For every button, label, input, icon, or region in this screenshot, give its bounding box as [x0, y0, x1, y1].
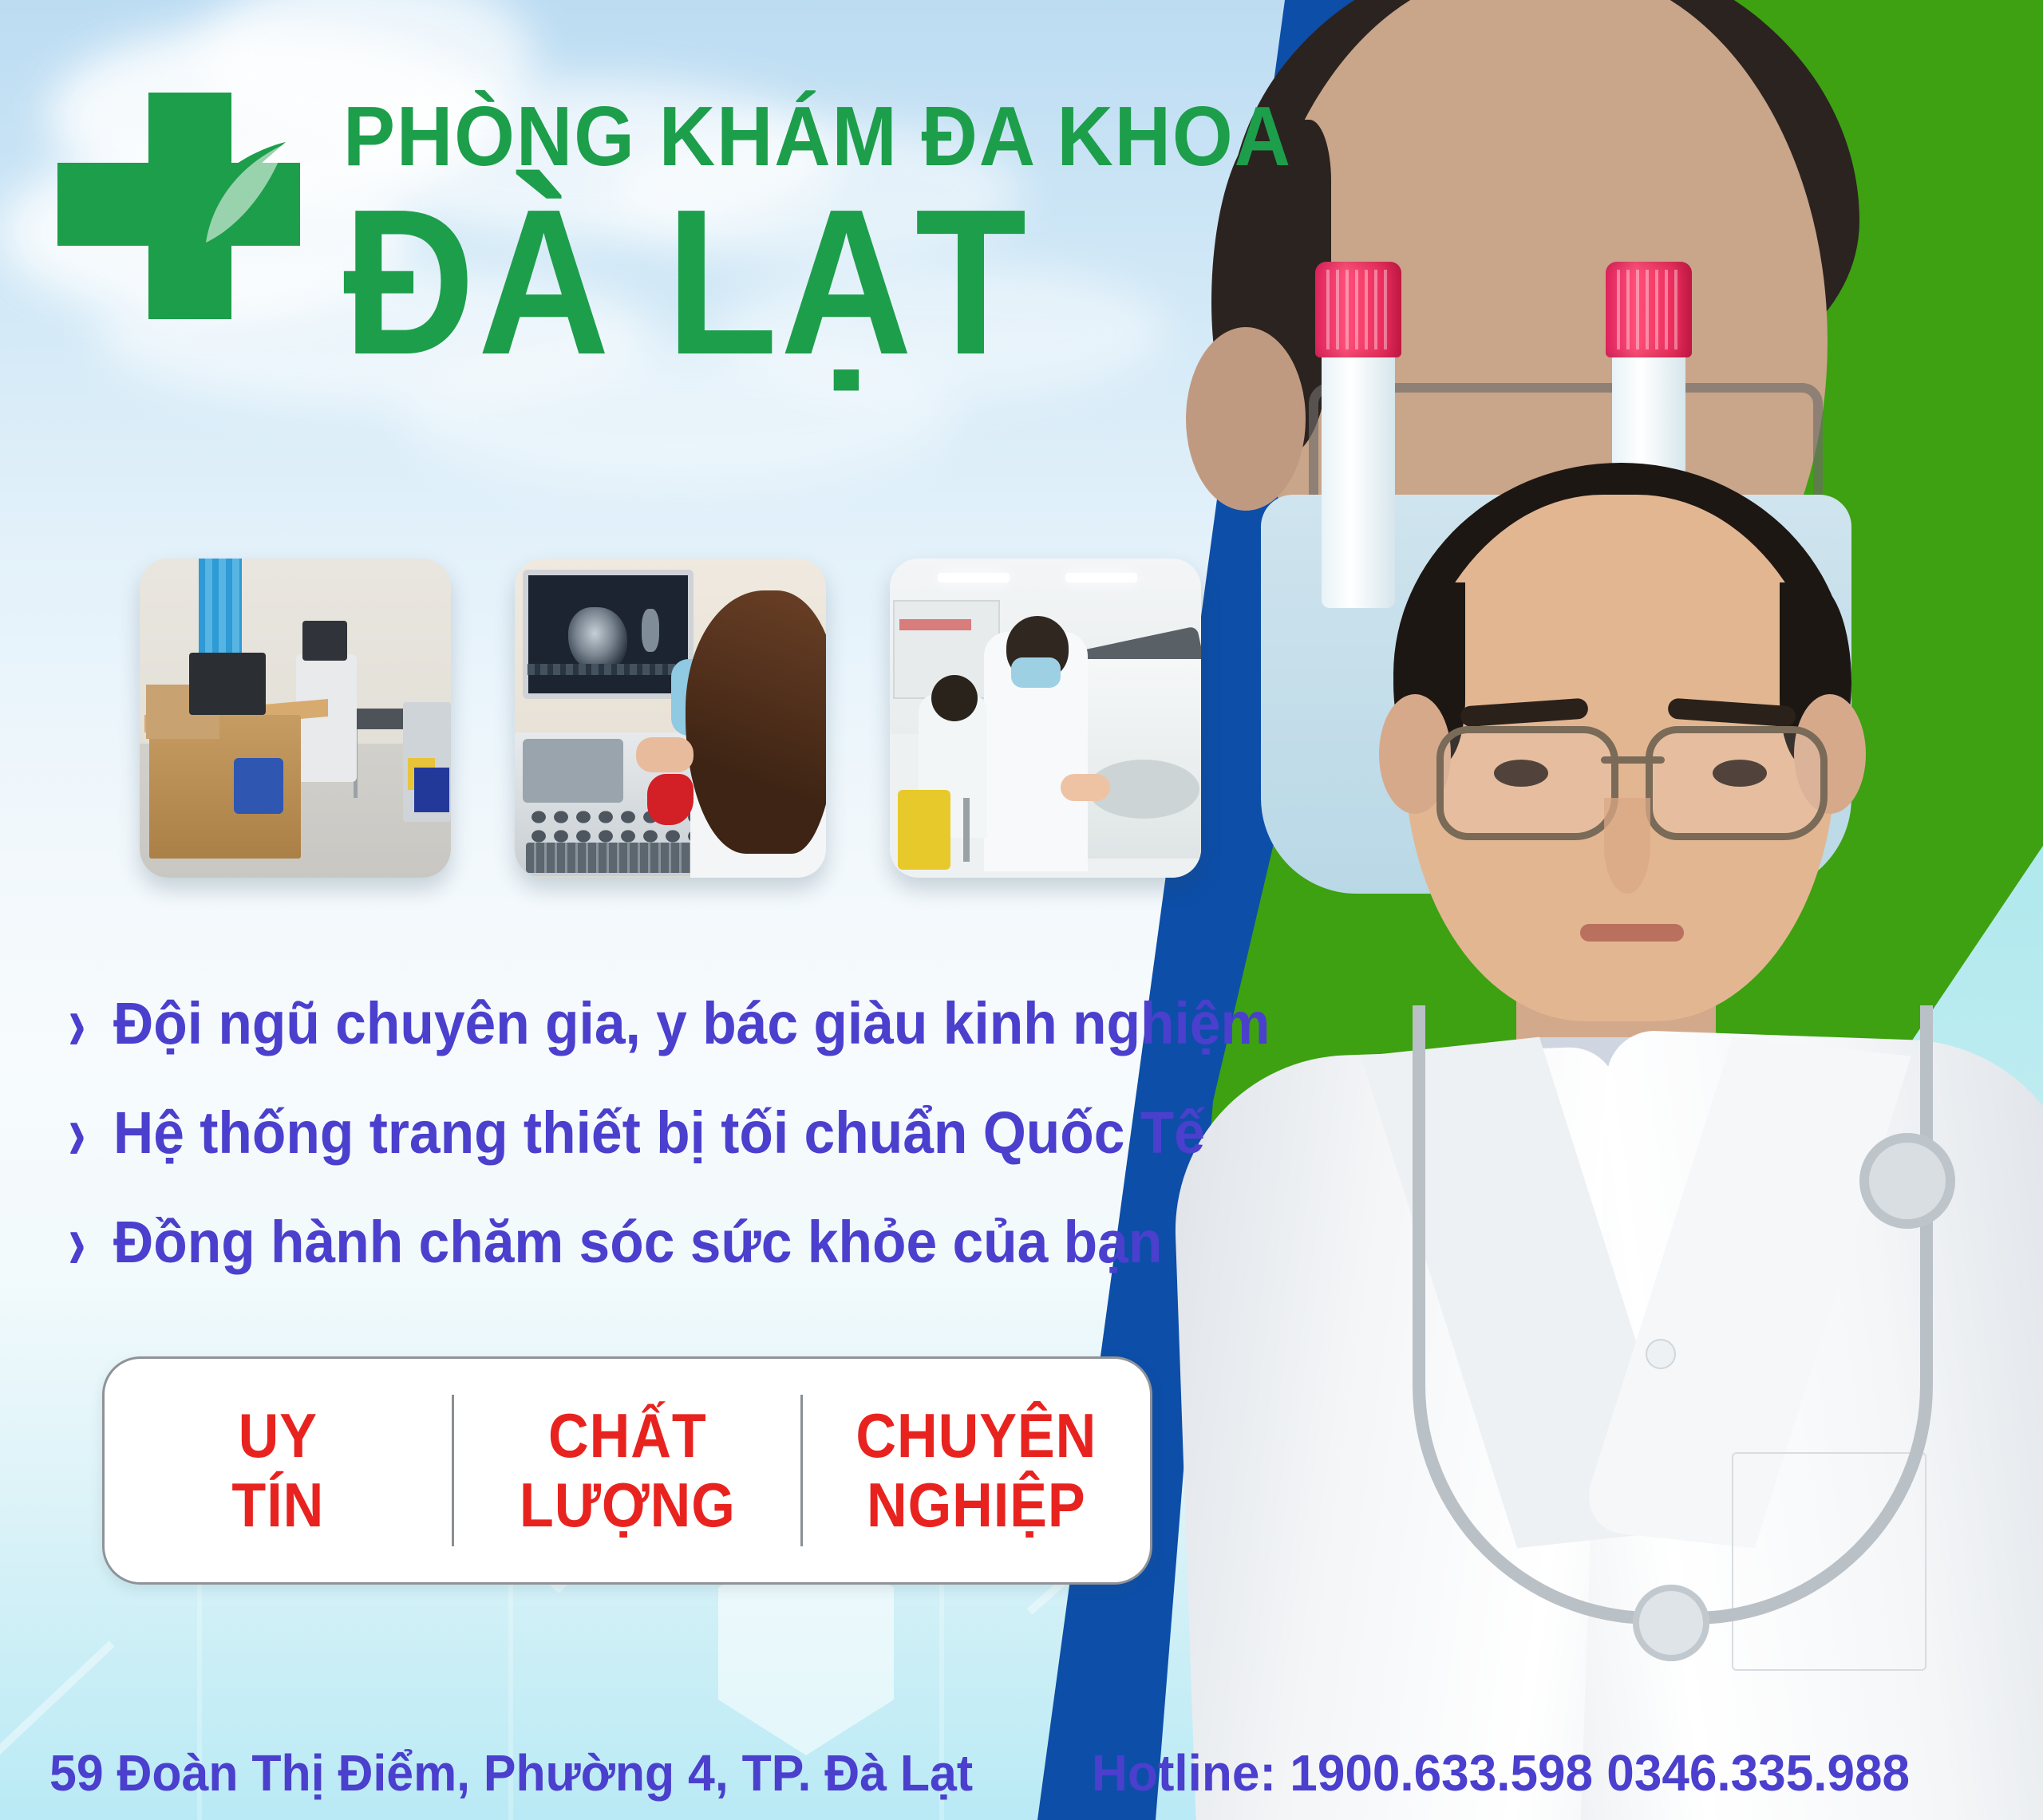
console-keyboard [526, 843, 694, 873]
value-line-2: TÍN [231, 1471, 324, 1540]
stethoscope-bell [1859, 1133, 1955, 1229]
photo-gallery [140, 559, 1201, 894]
mouth [1580, 924, 1684, 942]
chevron-right-icon: › [68, 1101, 101, 1164]
ultrasound-image [568, 607, 627, 673]
tube-cap [1606, 262, 1692, 357]
medical-cross-leaf-logo-icon [46, 86, 342, 326]
technician-hair [686, 590, 826, 854]
gallery-photo-exam-room[interactable] [140, 559, 451, 878]
glasses-bridge [1601, 756, 1665, 764]
nose [1604, 798, 1650, 894]
lens-right [1646, 726, 1828, 840]
brand-wordmark: PHÒNG KHÁM ĐA KHOA ĐÀ LẠT [343, 94, 1374, 383]
red-cloth [647, 774, 694, 825]
value-line-1: UY [239, 1401, 318, 1471]
stethoscope-icon [1413, 1005, 1907, 1692]
value-divider [452, 1395, 454, 1546]
lens-left [1436, 726, 1618, 840]
list-item: › Đội ngũ chuyên gia, y bác giàu kinh ng… [64, 989, 1245, 1057]
chevron-right-icon: › [68, 1210, 101, 1273]
ultrasound-display [523, 570, 694, 699]
chevron-right-icon: › [68, 992, 101, 1055]
stethoscope-tubing [1413, 1005, 1933, 1625]
biohazard-bin [898, 790, 950, 870]
value-line-2: LƯỢNG [520, 1471, 736, 1540]
ultrasound-monitor [302, 621, 347, 661]
value-line-1: CHUYÊN [856, 1401, 1097, 1471]
gallery-photo-laboratory[interactable] [890, 559, 1201, 878]
clinic-logo [46, 86, 342, 326]
feature-text: Đồng hành chăm sóc sức khỏe của bạn [113, 1208, 1162, 1276]
white-lab-coat [1173, 1005, 2043, 1820]
feature-text: Hệ thống trang thiết bị tối chuẩn Quốc T… [113, 1099, 1205, 1167]
blue-chair [234, 758, 283, 814]
clinic-advertisement-poster: PHÒNG KHÁM ĐA KHOA ĐÀ LẠT [0, 0, 2043, 1820]
list-item: › Hệ thống trang thiết bị tối chuẩn Quốc… [64, 1099, 1245, 1167]
feature-list: › Đội ngũ chuyên gia, y bác giàu kinh ng… [64, 989, 1245, 1317]
list-item: › Đồng hành chăm sóc sức khỏe của bạn [64, 1208, 1245, 1276]
values-box: UY TÍN CHẤT LƯỢNG CHUYÊN NGHIỆP [102, 1356, 1152, 1585]
gallery-photo-ultrasound-scan[interactable] [515, 559, 826, 878]
feature-text: Đội ngũ chuyên gia, y bác giàu kinh nghi… [113, 989, 1270, 1057]
face-mask [1011, 657, 1061, 688]
hotline-numbers[interactable]: Hotline: 1900.633.598 0346.335.988 [1092, 1743, 1910, 1802]
value-divider [800, 1395, 803, 1546]
value-line-1: CHẤT [548, 1401, 707, 1471]
clinic-address: 59 Đoàn Thị Điểm, Phường 4, TP. Đà Lạt [49, 1743, 973, 1802]
value-item-chuyen-nghiep: CHUYÊN NGHIỆP [820, 1401, 1132, 1541]
value-item-uy-tin: UY TÍN [122, 1401, 434, 1541]
laptop [189, 653, 266, 715]
technician-arm [636, 737, 694, 772]
value-line-2: NGHIỆP [867, 1471, 1086, 1540]
value-item-chat-luong: CHẤT LƯỢNG [471, 1401, 783, 1541]
stethoscope-chestpiece [1633, 1585, 1709, 1661]
clinic-name: ĐÀ LẠT [343, 184, 1251, 383]
foreground-doctor [1173, 351, 2043, 1820]
